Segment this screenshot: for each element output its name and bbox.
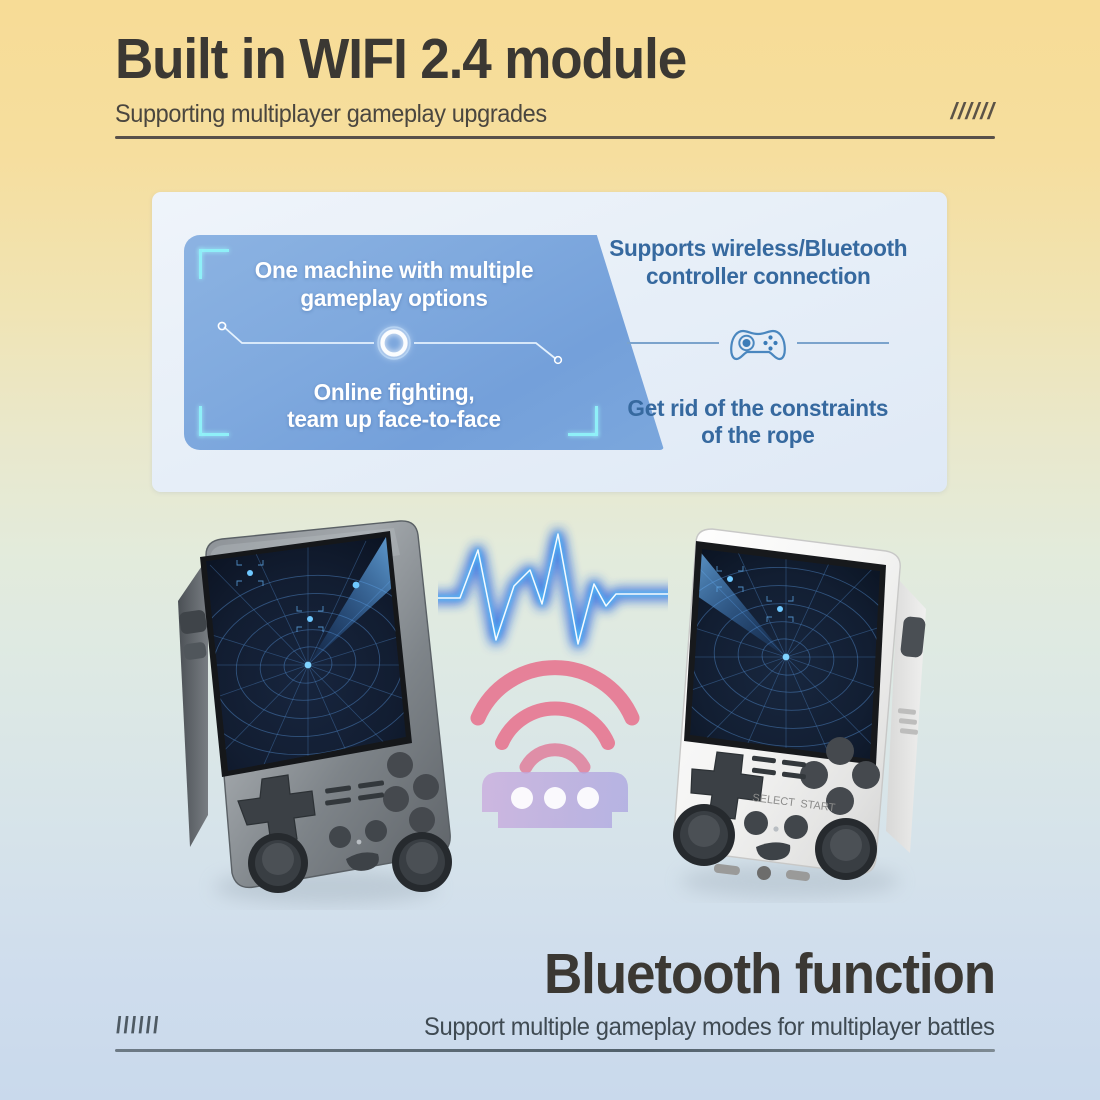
footer-subtitle-row: \\\\\\ Support multiple gameplay modes f… [115,1013,995,1042]
page-title: Built in WIFI 2.4 module [115,30,933,90]
header-subtitle-row: Supporting multiplayer gameplay upgrades… [115,100,995,129]
tile-left-heading: One machine with multiple gameplay optio… [192,257,595,312]
feature-tile-multiplayer-content: One machine with multiple gameplay optio… [184,235,604,450]
router-wifi-graphic [460,660,650,835]
left-handheld-console[interactable] [150,515,480,910]
poster-canvas: Built in WIFI 2.4 module Supporting mult… [0,0,1100,1100]
connection-line-graphic-icon [184,313,604,377]
tile-right-caption: Get rid of the constraints of the rope [628,395,889,450]
router-icon [482,772,628,828]
footer-subtitle: Support multiple gameplay modes for mult… [424,1013,995,1042]
footer-title: Bluetooth function [177,945,995,1005]
footer-block: Bluetooth function \\\\\\ Support multip… [115,945,995,1052]
forward-slash-marks-icon: ////// [951,98,995,125]
divider-right [797,342,889,344]
header-block: Built in WIFI 2.4 module Supporting mult… [115,30,995,139]
tile-left-caption: Online fighting, team up face-to-face [192,379,595,434]
devices-showcase: SELECT START [0,495,1100,920]
footer-divider [115,1049,995,1052]
tile-right-icon-row [593,321,923,365]
wifi-signal-icon [478,668,632,767]
divider-left [627,342,719,344]
backward-slash-marks-icon: \\\\\\ [115,1012,159,1039]
right-handheld-console[interactable]: SELECT START [640,513,960,903]
tile-right-heading: Supports wireless/Bluetooth controller c… [609,235,907,290]
feature-panel: One machine with multiple gameplay optio… [152,192,947,492]
gamepad-icon [727,321,789,365]
header-divider [115,136,995,139]
feature-tile-bluetooth: Supports wireless/Bluetooth controller c… [593,235,923,450]
header-subtitle: Supporting multiplayer gameplay upgrades [115,100,547,129]
